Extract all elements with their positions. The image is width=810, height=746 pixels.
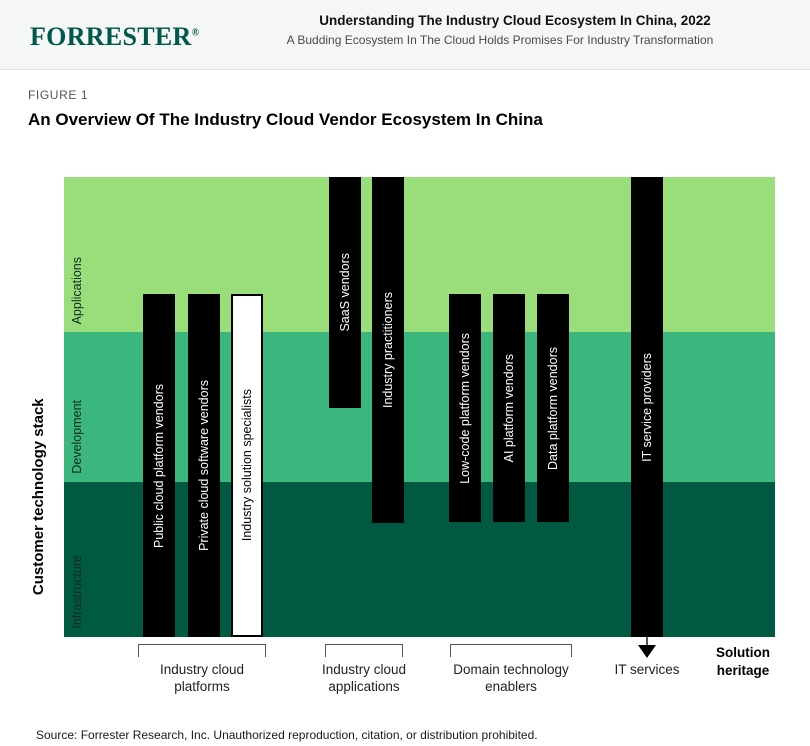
group-label-domain-technology-enablers: Domain technology enablers [421, 662, 601, 696]
page-header: FORRESTER® Understanding The Industry Cl… [0, 0, 810, 70]
report-subtitle: A Budding Ecosystem In The Cloud Holds P… [200, 33, 800, 47]
x-axis-title-line2: heritage [717, 663, 770, 678]
group-label-line2: platforms [174, 679, 230, 694]
y-axis-title: Customer technology stack [30, 398, 47, 595]
bar-saas-vendors[interactable]: SaaS vendors [329, 177, 361, 408]
group-label-industry-cloud-applications: Industry cloud applications [284, 662, 444, 696]
group-label-line2: applications [328, 679, 399, 694]
band-label-infrastructure: Infrastructure [70, 555, 84, 629]
bracket-industry-cloud-platforms [138, 644, 266, 657]
band-label-applications: Applications [70, 257, 84, 324]
bar-industry-solution-specialists[interactable]: Industry solution specialists [231, 294, 263, 637]
group-label-line2: enablers [485, 679, 537, 694]
bar-data-platform-vendors[interactable]: Data platform vendors [537, 294, 569, 522]
bar-label: IT service providers [641, 353, 654, 462]
bar-label: Data platform vendors [547, 347, 560, 470]
chart-plot-area: Applications Development Infrastructure … [64, 177, 775, 637]
bar-private-cloud-software-vendors[interactable]: Private cloud software vendors [188, 294, 220, 637]
it-services-arrow-icon [638, 645, 656, 658]
group-label-line1: IT services [614, 662, 679, 677]
group-label-it-services: IT services [597, 662, 697, 679]
bar-it-service-providers[interactable]: IT service providers [631, 177, 663, 637]
registered-mark-icon: ® [192, 27, 200, 38]
bar-label: SaaS vendors [339, 253, 352, 332]
bracket-industry-cloud-applications [325, 644, 403, 657]
group-label-industry-cloud-platforms: Industry cloud platforms [122, 662, 282, 696]
figure-title: An Overview Of The Industry Cloud Vendor… [28, 110, 543, 130]
figure-number: FIGURE 1 [28, 88, 88, 102]
bracket-domain-technology-enablers [450, 644, 572, 657]
x-axis-title-line1: Solution [716, 645, 770, 660]
bar-label: Industry solution specialists [241, 389, 254, 541]
bar-label: Private cloud software vendors [198, 380, 211, 551]
bar-industry-practitioners[interactable]: Industry practitioners [372, 177, 404, 523]
logo-text: FORRESTER [30, 22, 192, 51]
group-label-line1: Domain technology [453, 662, 569, 677]
bar-public-cloud-platform-vendors[interactable]: Public cloud platform vendors [143, 294, 175, 637]
group-label-line1: Industry cloud [322, 662, 406, 677]
bar-label: Industry practitioners [382, 292, 395, 408]
bar-label: Low-code platform vendors [459, 333, 472, 484]
group-label-line1: Industry cloud [160, 662, 244, 677]
bar-label: Public cloud platform vendors [153, 384, 166, 548]
bar-ai-platform-vendors[interactable]: AI platform vendors [493, 294, 525, 522]
forrester-logo: FORRESTER® [30, 22, 199, 52]
bar-label: AI platform vendors [503, 354, 516, 462]
source-note: Source: Forrester Research, Inc. Unautho… [36, 728, 538, 742]
bar-low-code-platform-vendors[interactable]: Low-code platform vendors [449, 294, 481, 522]
report-title: Understanding The Industry Cloud Ecosyst… [240, 13, 790, 28]
x-axis-title: Solution heritage [693, 644, 793, 679]
band-label-development: Development [70, 400, 84, 474]
